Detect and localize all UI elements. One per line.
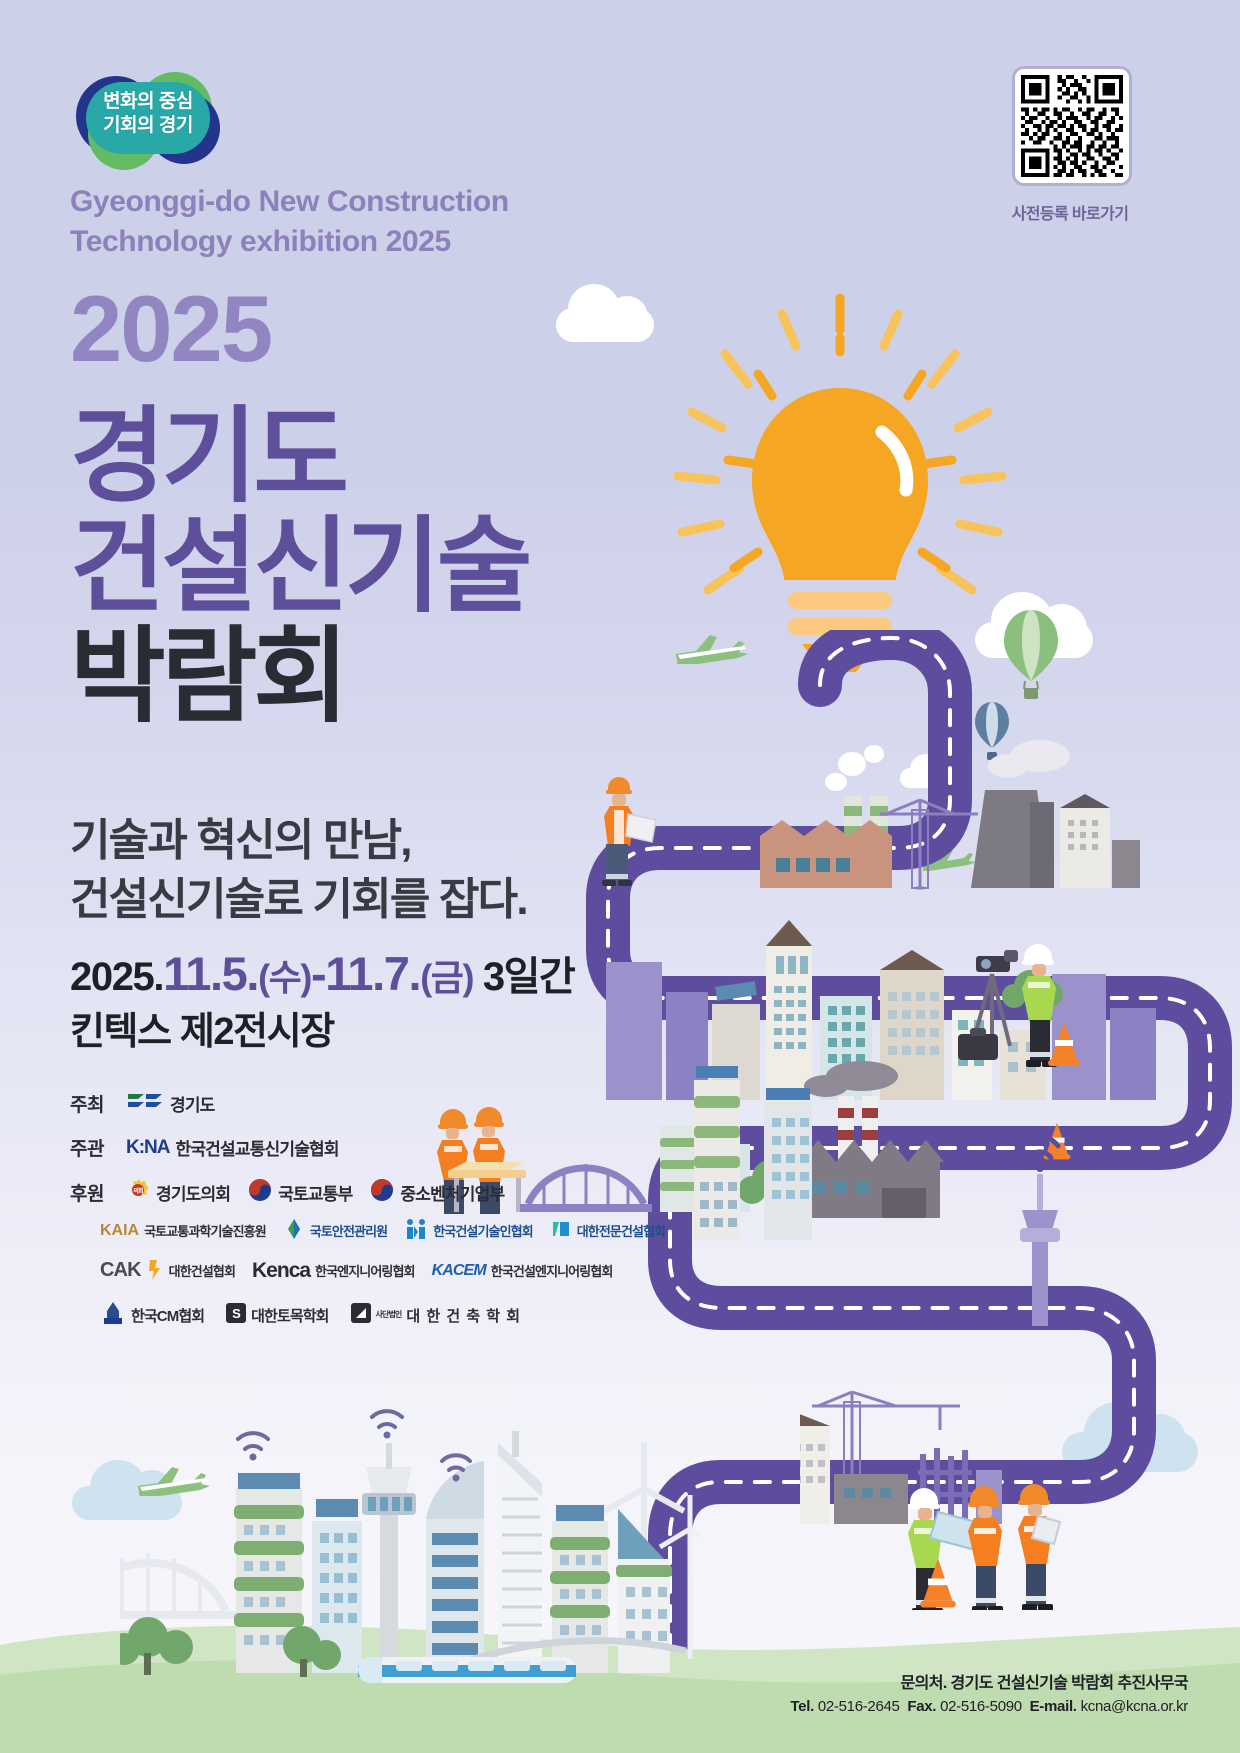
footer-email-label: E-mail. xyxy=(1030,1698,1077,1715)
date-duration: 3일간 xyxy=(483,955,575,999)
aik-logo-icon xyxy=(351,1303,371,1327)
footer-office: 문의처. 경기도 건설신기술 박람회 추진사무국 xyxy=(790,1669,1188,1693)
page-title: 경기도 건설신기술 박람회 xyxy=(70,402,710,733)
comm-tower xyxy=(998,1100,1088,1330)
footer-tel: 02-516-2645 xyxy=(818,1698,900,1715)
credit-row-sponsor: 후원 의회 경기도의회 xyxy=(70,1178,690,1207)
event-venue: 킨텍스 제2전시장 xyxy=(70,1000,334,1055)
footer-contact: 문의처. 경기도 건설신기술 박람회 추진사무국 Tel. 02-516-264… xyxy=(790,1669,1188,1715)
credit-items-host: 경기도 xyxy=(126,1091,215,1116)
gyeonggi-logo: 변화의 중심 기회의 경기 xyxy=(72,68,224,173)
logo-text-line1: 변화의 중심 xyxy=(72,90,224,114)
aik-corp-label: 사단법인 xyxy=(376,1311,402,1319)
footer-tel-label: Tel. xyxy=(790,1698,814,1715)
credit-items-organizer: K:NA 한국건설교통신기술협회 xyxy=(126,1135,339,1160)
cmak-logo-icon xyxy=(100,1301,126,1329)
partner-label: 한국엔지니어링협회 xyxy=(315,1261,415,1280)
partner-aik: 사단법인 대 한 건 축 학 회 xyxy=(351,1303,521,1327)
date-start: 11.5. xyxy=(163,947,258,1000)
svg-text:의회: 의회 xyxy=(133,1187,143,1195)
partner-row-2: CAK 대한건설협회 Kenca 한국엔지니어링협회 KACEM 한국건설엔지니… xyxy=(100,1258,740,1283)
factory-scene xyxy=(740,740,1140,940)
partner-label: 한국건설엔지니어링협회 xyxy=(491,1261,613,1280)
taegeuk-icon xyxy=(370,1178,394,1207)
poster-canvas: 변화의 중심 기회의 경기 xyxy=(0,0,1240,1753)
partner-label: 대한토목학회 xyxy=(251,1305,328,1326)
partner-cak: CAK 대한건설협회 xyxy=(100,1258,235,1283)
partner-logos: KAIA 국토교통과학기술진흥원 국토안전관리원 한국건설기술인협회 대한전문 xyxy=(100,1218,740,1344)
partner-kaia: KAIA 국토교통과학기술진흥원 xyxy=(100,1221,266,1240)
credit-items-sponsor: 의회 경기도의회 국토교통부 xyxy=(126,1178,504,1207)
partner-kosca: 대한전문건설협회 xyxy=(550,1218,665,1243)
english-title-line1: Gyeonggi-do New Construction xyxy=(70,182,630,222)
credit-item-mss: 중소벤처기업부 xyxy=(370,1178,504,1207)
partner-ksce: S 대한토목학회 xyxy=(226,1303,328,1327)
slogan-line1: 기술과 혁신의 만남, xyxy=(70,812,710,871)
title-line3: 박람회 xyxy=(70,622,710,732)
partner-label: 국토안전관리원 xyxy=(310,1221,387,1240)
partner-label: 대한전문건설협회 xyxy=(577,1221,665,1240)
footer-fax-label: Fax. xyxy=(907,1698,936,1715)
kcna-logo-icon: K:NA xyxy=(126,1137,170,1159)
partner-kocea: 한국건설기술인협회 xyxy=(404,1218,533,1243)
kacem-logo-icon: KACEM xyxy=(432,1262,486,1280)
english-title-line2: Technology exhibition 2025 xyxy=(70,222,630,262)
qr-code[interactable] xyxy=(1012,66,1132,186)
construction-site-scene xyxy=(800,1370,1160,1610)
partner-label: 대한건설협회 xyxy=(169,1261,235,1280)
council-seal-icon: 의회 xyxy=(126,1178,150,1207)
qr-caption: 사전등록 바로가기 xyxy=(980,200,1160,224)
credit-item-label: 중소벤처기업부 xyxy=(400,1180,504,1205)
kalis-logo-icon xyxy=(283,1218,305,1243)
partner-kalis: 국토안전관리원 xyxy=(283,1218,387,1243)
credit-label-sponsor: 후원 xyxy=(70,1179,126,1206)
smokestack-factory xyxy=(740,1050,1040,1230)
ground-strip xyxy=(0,1583,1240,1753)
slogan-line2: 건설신기술로 기회를 잡다. xyxy=(70,871,710,930)
kosca-logo-icon xyxy=(550,1218,572,1243)
credit-label-host: 주최 xyxy=(70,1090,126,1117)
traffic-cone-icon xyxy=(1046,1020,1082,1068)
partner-label: 국토교통과학기술진흥원 xyxy=(144,1221,266,1240)
gyeonggi-flag-icon xyxy=(126,1091,164,1116)
logo-text-line2: 기회의 경기 xyxy=(72,114,224,138)
date-year-prefix: 2025. xyxy=(70,955,163,999)
event-dateline: 2025.11.5.(수)-11.7.(금) 3일간 xyxy=(70,944,770,1002)
partner-kenca: Kenca 한국엔지니어링협회 xyxy=(252,1259,415,1283)
partner-label: 한국CM협회 xyxy=(131,1305,204,1326)
credit-label-organizer: 주관 xyxy=(70,1134,126,1161)
date-dash: - xyxy=(311,947,325,1000)
credit-item-kcna: K:NA 한국건설교통신기술협회 xyxy=(126,1135,339,1160)
svg-text:S: S xyxy=(232,1306,241,1321)
title-line2: 건설신기술 xyxy=(70,512,710,622)
surveyor-figure xyxy=(952,926,1072,1076)
eco-towers xyxy=(680,1040,840,1240)
credit-item-label: 경기도의회 xyxy=(156,1180,230,1205)
cak-mark-icon xyxy=(146,1258,164,1283)
logo-text: 변화의 중심 기회의 경기 xyxy=(72,90,224,137)
city-skyline-bottom xyxy=(120,1369,700,1699)
partner-row-3: 한국CM협회 S 대한토목학회 사단법인 대 한 건 축 학 회 xyxy=(100,1301,740,1329)
credits-block: 주최 경기도 주관 xyxy=(70,1090,690,1224)
credit-row-host: 주최 경기도 xyxy=(70,1090,690,1117)
qr-code-image xyxy=(1021,75,1123,177)
date-end-weekday: (금) xyxy=(420,957,473,998)
partner-label: 대 한 건 축 학 회 xyxy=(406,1305,521,1326)
title-line1: 경기도 xyxy=(70,402,710,512)
credit-row-organizer: 주관 K:NA 한국건설교통신기술협회 xyxy=(70,1134,690,1161)
kocea-logo-icon xyxy=(404,1218,428,1243)
traffic-cone-icon xyxy=(918,1556,958,1610)
ksce-logo-icon: S xyxy=(226,1303,246,1327)
partner-cmak: 한국CM협회 xyxy=(100,1301,204,1329)
footer-contact-line: Tel. 02-516-2645 Fax. 02-516-5090 E-mail… xyxy=(790,1698,1188,1715)
airplane-icon xyxy=(134,1462,214,1496)
hot-air-balloon-icon xyxy=(972,700,1012,764)
kaia-logo-icon: KAIA xyxy=(100,1222,139,1240)
traffic-cone-icon xyxy=(1042,1120,1072,1162)
credit-item-label: 한국건설교통신기술협회 xyxy=(176,1135,339,1160)
hot-air-balloon-icon xyxy=(1000,608,1062,704)
credit-item-gyeonggi: 경기도 xyxy=(126,1091,215,1116)
date-start-weekday: (수) xyxy=(258,957,311,998)
cak-logo-icon: CAK xyxy=(100,1259,141,1282)
partner-kacem: KACEM 한국건설엔지니어링협회 xyxy=(432,1261,613,1280)
english-title: Gyeonggi-do New Construction Technology … xyxy=(70,182,630,262)
title-year: 2025 xyxy=(70,282,271,376)
date-end: 11.7. xyxy=(325,947,420,1000)
credit-item-label: 경기도 xyxy=(170,1091,215,1116)
credit-item-label: 국토교통부 xyxy=(278,1180,352,1205)
slogan: 기술과 혁신의 만남, 건설신기술로 기회를 잡다. xyxy=(70,812,710,930)
partner-row-1: KAIA 국토교통과학기술진흥원 국토안전관리원 한국건설기술인협회 대한전문 xyxy=(100,1218,740,1243)
taegeuk-icon xyxy=(248,1178,272,1207)
credit-item-molit: 국토교통부 xyxy=(248,1178,352,1207)
footer-fax: 02-516-5090 xyxy=(940,1698,1022,1715)
airplane-icon xyxy=(920,845,978,871)
footer-email: kcna@kcna.or.kr xyxy=(1081,1698,1188,1715)
partner-label: 한국건설기술인협회 xyxy=(433,1221,533,1240)
kenca-logo-icon: Kenca xyxy=(252,1259,310,1283)
credit-item-council: 의회 경기도의회 xyxy=(126,1178,230,1207)
